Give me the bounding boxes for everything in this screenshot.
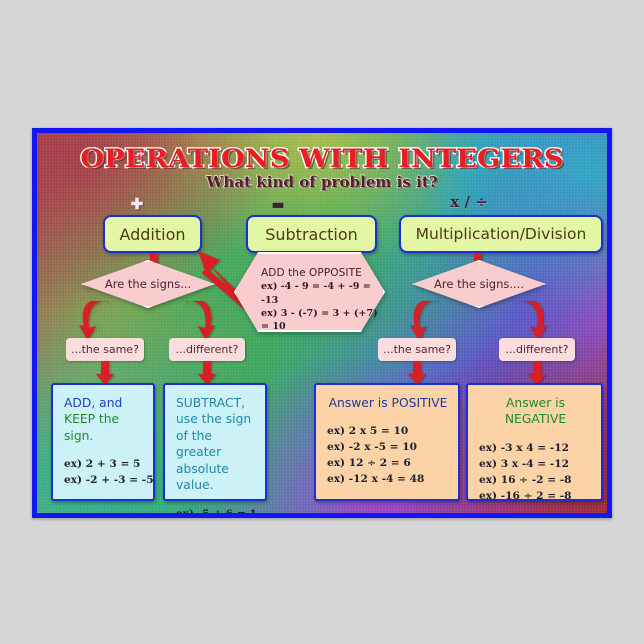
chip-addition-same[interactable]: ...the same?	[66, 338, 144, 361]
answer-addition-different-heading: SUBTRACT, use the sign of the greater ab…	[176, 395, 256, 494]
minus-icon: ▬	[256, 197, 300, 213]
chip-addition-same-label: ...the same?	[71, 343, 139, 356]
answer-muldiv-same-example-2: ex) -2 x -5 = 10	[327, 440, 449, 456]
plus-icon: ✚	[115, 195, 159, 213]
answer-muldiv-different-example-1: ex) -3 x 4 = -12	[479, 441, 592, 457]
arrow-chip-muldiv-same-to-answer	[406, 361, 428, 385]
arrow-muldiv-different-branch	[511, 301, 547, 343]
answer-addition-same-line-3: sign.	[64, 428, 144, 444]
operation-box-multiplication-division-label: Multiplication/Division	[416, 225, 587, 243]
spacer	[176, 496, 256, 507]
answer-addition-same-line-2: KEEP the	[64, 411, 144, 427]
answer-muldiv-different-example-2: ex) 3 x -4 = -12	[479, 457, 592, 473]
chip-addition-different[interactable]: ...different?	[169, 338, 245, 361]
spacer	[64, 446, 144, 457]
answer-muldiv-same-example-3: ex) 12 ÷ 2 = 6	[327, 456, 449, 472]
answer-box-addition-same: ADD, and KEEP the sign. ex) 2 + 3 = 5 ex…	[51, 383, 155, 501]
spacer	[479, 430, 592, 441]
subtraction-rule-example-2: ex) 3 - (-7) = 3 + (+7) = 10	[261, 307, 385, 333]
subtraction-rule-heading: ADD the OPPOSITE	[261, 266, 385, 280]
answer-addition-same-example-1: ex) 2 + 3 = 5	[64, 457, 144, 473]
arrow-chip-addition-same-to-answer	[94, 361, 116, 385]
chip-muldiv-different[interactable]: ...different?	[499, 338, 575, 361]
decision-muldiv-signs-label: Are the signs....	[434, 277, 524, 291]
subtraction-rule-text: ADD the OPPOSITE ex) -4 - 9 = -4 + -9 = …	[234, 252, 385, 333]
operation-box-multiplication-division[interactable]: Multiplication/Division	[399, 215, 603, 253]
answer-muldiv-different-example-4: ex) -16 ÷ 2 = -8	[479, 489, 592, 505]
answer-addition-same-heading: ADD, and KEEP the sign.	[64, 395, 144, 444]
answer-addition-different-example-1: ex) -5 + 6 = 1	[176, 507, 256, 518]
answer-muldiv-same-heading: Answer is POSITIVE	[327, 395, 449, 411]
arrow-chip-muldiv-different-to-answer	[526, 361, 548, 385]
subtraction-rule-example-1: ex) -4 - 9 = -4 + -9 = -13	[261, 280, 385, 306]
arrow-muldiv-same-branch	[410, 301, 446, 343]
answer-muldiv-different-example-3: ex) 16 ÷ -2 = -8	[479, 473, 592, 489]
answer-addition-same-line-1: ADD, and	[64, 395, 144, 411]
operation-box-addition[interactable]: Addition	[103, 215, 202, 253]
operation-box-addition-label: Addition	[119, 225, 185, 244]
operation-box-subtraction-label: Subtraction	[265, 225, 358, 244]
chip-muldiv-same-label: ...the same?	[383, 343, 451, 356]
answer-box-addition-different: SUBTRACT, use the sign of the greater ab…	[163, 383, 267, 501]
decision-addition-signs-label: Are the signs...	[105, 277, 191, 291]
chip-muldiv-same[interactable]: ...the same?	[378, 338, 456, 361]
answer-addition-different-line-1: SUBTRACT,	[176, 395, 256, 411]
chip-muldiv-different-label: ...different?	[505, 343, 568, 356]
spacer	[327, 413, 449, 424]
subtraction-rule-hexagon: ADD the OPPOSITE ex) -4 - 9 = -4 + -9 = …	[234, 252, 385, 332]
poster-stage: OPERATIONS WITH INTEGERS What kind of pr…	[0, 0, 644, 644]
page-subtitle: What kind of problem is it?	[32, 174, 612, 191]
answer-muldiv-different-heading: Answer is NEGATIVE	[479, 395, 592, 428]
answer-box-muldiv-different: Answer is NEGATIVE ex) -3 x 4 = -12 ex) …	[466, 383, 603, 501]
answer-addition-different-line-4: absolute value.	[176, 461, 256, 494]
answer-addition-same-example-2: ex) -2 + -3 = -5	[64, 473, 144, 489]
multiply-divide-icon: x / ÷	[427, 193, 511, 211]
poster-frame: OPERATIONS WITH INTEGERS What kind of pr…	[32, 128, 612, 518]
arrow-addition-different-branch	[179, 301, 215, 343]
arrow-chip-addition-different-to-answer	[196, 361, 218, 385]
answer-box-muldiv-same: Answer is POSITIVE ex) 2 x 5 = 10 ex) -2…	[314, 383, 460, 501]
operation-box-subtraction[interactable]: Subtraction	[246, 215, 377, 253]
answer-muldiv-same-example-4: ex) -12 x -4 = 48	[327, 472, 449, 488]
answer-muldiv-same-example-1: ex) 2 x 5 = 10	[327, 424, 449, 440]
chip-addition-different-label: ...different?	[175, 343, 238, 356]
poster-content: OPERATIONS WITH INTEGERS What kind of pr…	[37, 133, 607, 513]
page-title: OPERATIONS WITH INTEGERS	[32, 144, 612, 174]
answer-addition-different-line-2: use the sign	[176, 411, 256, 427]
arrow-addition-same-branch	[79, 301, 115, 343]
answer-addition-different-line-3: of the greater	[176, 428, 256, 461]
